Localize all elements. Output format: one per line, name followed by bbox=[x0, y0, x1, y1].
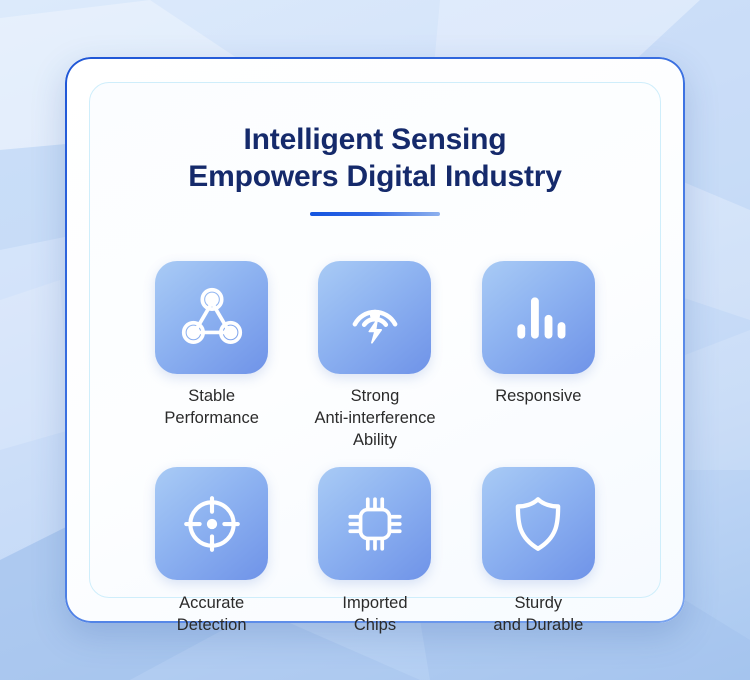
feature-label: Sturdy and Durable bbox=[493, 592, 583, 636]
feature-label: Strong Anti-interference Ability bbox=[314, 385, 435, 451]
features-grid: Stable Performance Strong Anti-interfere… bbox=[130, 261, 620, 636]
title-line-1: Intelligent Sensing bbox=[90, 121, 660, 158]
feature-icon-tile bbox=[482, 467, 595, 580]
feature-icon-tile bbox=[155, 261, 268, 374]
feature-item-accurate-detection[interactable]: Accurate Detection bbox=[130, 467, 293, 636]
feature-label: Responsive bbox=[495, 385, 581, 407]
bar-levels-icon bbox=[505, 285, 571, 351]
feature-card-inner: Intelligent Sensing Empowers Digital Ind… bbox=[89, 82, 661, 598]
title-line-2: Empowers Digital Industry bbox=[90, 158, 660, 195]
feature-item-sturdy-durable[interactable]: Sturdy and Durable bbox=[457, 467, 620, 636]
feature-icon-tile bbox=[318, 467, 431, 580]
shield-icon bbox=[505, 491, 571, 557]
feature-label: Accurate Detection bbox=[177, 592, 247, 636]
feature-item-imported-chips[interactable]: Imported Chips bbox=[293, 467, 456, 636]
triangle-network-icon bbox=[179, 285, 245, 351]
feature-icon-tile bbox=[155, 467, 268, 580]
feature-label: Imported Chips bbox=[342, 592, 407, 636]
microchip-icon bbox=[342, 491, 408, 557]
feature-icon-tile bbox=[318, 261, 431, 374]
feature-item-stable-performance[interactable]: Stable Performance bbox=[130, 261, 293, 451]
feature-card: Intelligent Sensing Empowers Digital Ind… bbox=[65, 57, 685, 623]
signal-waves-lightning-icon bbox=[342, 285, 408, 351]
feature-icon-tile bbox=[482, 261, 595, 374]
feature-item-anti-interference[interactable]: Strong Anti-interference Ability bbox=[293, 261, 456, 451]
title-divider bbox=[310, 212, 440, 216]
page-title: Intelligent Sensing Empowers Digital Ind… bbox=[90, 121, 660, 216]
crosshair-target-icon bbox=[179, 491, 245, 557]
feature-label: Stable Performance bbox=[164, 385, 258, 429]
feature-item-responsive[interactable]: Responsive bbox=[457, 261, 620, 451]
